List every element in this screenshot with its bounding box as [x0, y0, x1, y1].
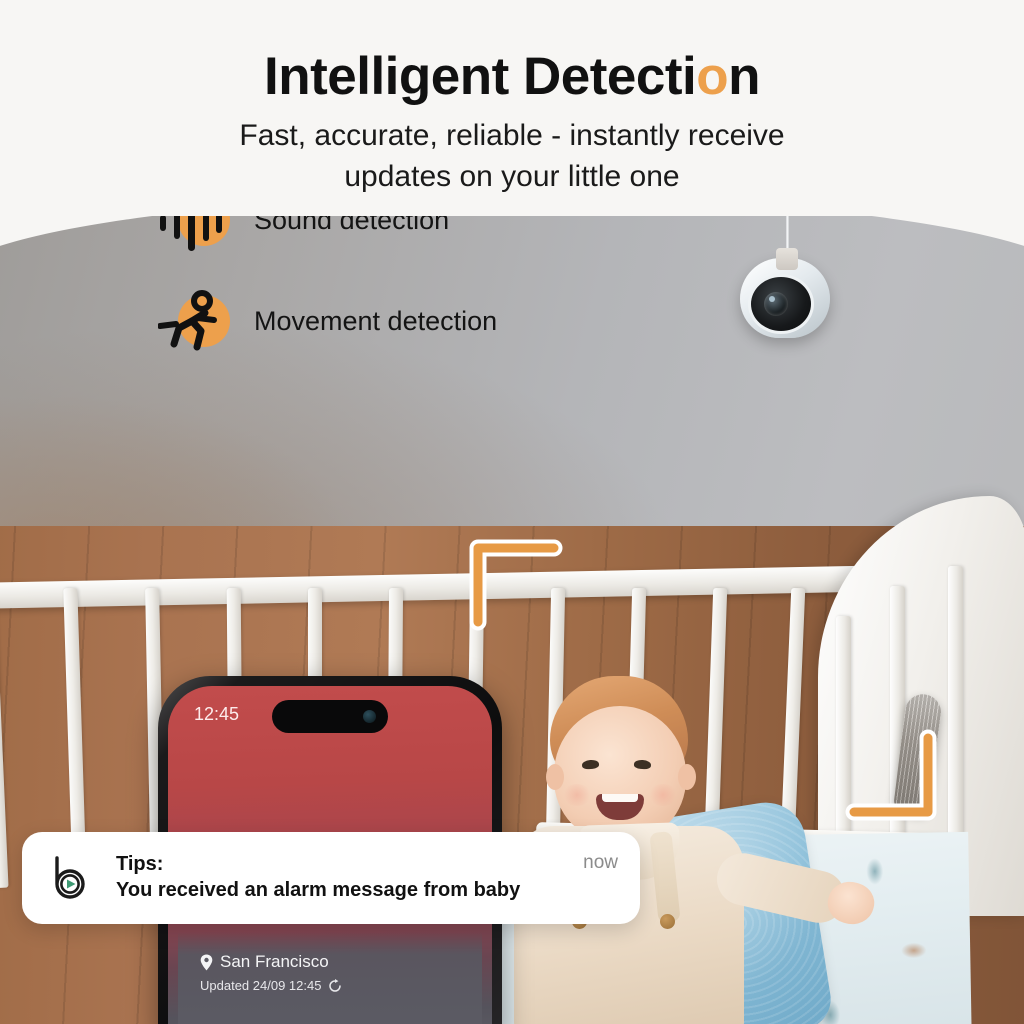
running-person-icon [158, 286, 236, 356]
dynamic-island [272, 700, 388, 733]
baby-cheek [562, 784, 592, 806]
baby-button [660, 914, 675, 929]
b-play-logo-icon [48, 855, 94, 901]
refresh-icon[interactable] [328, 979, 342, 993]
page-subtitle: Fast, accurate, reliable - instantly rec… [0, 116, 1024, 197]
crib-slat [0, 588, 9, 888]
headboard-slat [948, 566, 963, 876]
location-row: San Francisco [200, 952, 460, 972]
header: Intelligent Detection Fast, accurate, re… [0, 0, 1024, 216]
baby-eye [634, 759, 652, 769]
status-bar-time: 12:45 [194, 704, 239, 725]
baby-ear [678, 764, 696, 790]
promo-page: Intelligent Detection Fast, accurate, re… [0, 0, 1024, 1024]
page-subtitle-line-1: Fast, accurate, reliable - instantly rec… [0, 116, 1024, 157]
notification-body: You received an alarm message from baby [116, 878, 583, 904]
page-subtitle-line-2: updates on your little one [0, 157, 1024, 198]
notification-title: Tips: [116, 852, 583, 878]
baby-ear [546, 764, 564, 790]
page-title: Intelligent Detection [0, 50, 1024, 104]
baby-head [554, 706, 686, 842]
updated-row: Updated 24/09 12:45 [200, 978, 460, 993]
updated-label: Updated 24/09 12:45 [200, 978, 321, 993]
notification-timestamp: now [583, 852, 618, 874]
detection-bracket-bottom-right [840, 728, 944, 833]
notification-card[interactable]: Tips: You received an alarm message from… [22, 832, 640, 924]
feature-item-movement-detection: Movement detection [158, 286, 497, 356]
detection-bracket-top-left [464, 532, 568, 637]
page-title-post: n [728, 47, 760, 106]
feature-label: Movement detection [254, 306, 497, 337]
camera-info-overlay: San Francisco Updated 24/09 12:45 [178, 932, 482, 1024]
baby-cheek [648, 784, 678, 806]
page-title-highlight: o [696, 47, 728, 106]
page-title-pre: Intelligent Detecti [264, 47, 696, 106]
location-pin-icon [200, 954, 213, 971]
location-label: San Francisco [220, 952, 329, 972]
notification-text: Tips: You received an alarm message from… [116, 852, 583, 903]
